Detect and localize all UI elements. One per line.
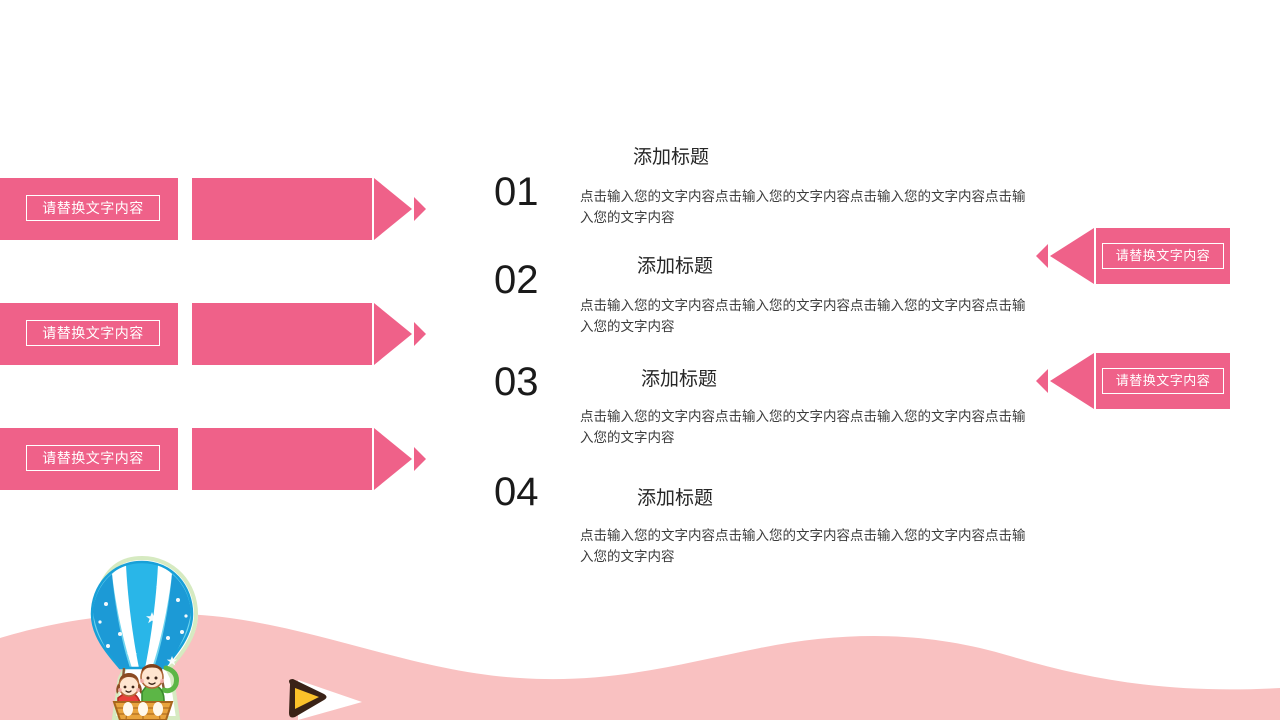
- list-item-title-04: 添加标题: [637, 487, 713, 511]
- right-chevron-tip-icon-2: [414, 322, 426, 346]
- list-item-number-02: 02: [494, 258, 539, 302]
- left-label-text-2: 请替换文字内容: [26, 320, 160, 346]
- list-item-number-01: 01: [494, 170, 539, 214]
- left-arrow-body-2: [192, 303, 372, 365]
- list-item-number-03: 03: [494, 360, 539, 404]
- left-arrow-body-3: [192, 428, 372, 490]
- left-arrow-body-1: [192, 178, 372, 240]
- list-item-title-01: 添加标题: [633, 146, 709, 170]
- list-item-number-04: 04: [494, 470, 539, 514]
- hot-air-balloon-icon: [62, 552, 222, 720]
- list-item-title-02: 添加标题: [637, 255, 713, 279]
- right-chevron-icon-2: [374, 303, 412, 365]
- right-chevron-icon-3: [374, 428, 412, 490]
- list-item-title-03: 添加标题: [641, 368, 717, 392]
- list-item-desc-01: 点击输入您的文字内容点击输入您的文字内容点击输入您的文字内容点击输入您的文字内容: [580, 186, 1035, 228]
- right-label-text-2: 请替换文字内容: [1102, 368, 1224, 394]
- slide-canvas: 请替换文字内容 请替换文字内容 请替换文字内容 请替换文字内容 请替换文字内容 …: [0, 0, 1280, 720]
- left-chevron-icon-2: [1050, 353, 1094, 409]
- right-chevron-tip-icon-1: [414, 197, 426, 221]
- left-label-text-1: 请替换文字内容: [26, 195, 160, 221]
- right-chevron-icon-1: [374, 178, 412, 240]
- list-item-desc-04: 点击输入您的文字内容点击输入您的文字内容点击输入您的文字内容点击输入您的文字内容: [580, 525, 1035, 567]
- list-item-desc-03: 点击输入您的文字内容点击输入您的文字内容点击输入您的文字内容点击输入您的文字内容: [580, 406, 1035, 448]
- left-chevron-tip-icon-2: [1036, 369, 1048, 393]
- left-chevron-tip-icon-1: [1036, 244, 1048, 268]
- right-chevron-tip-icon-3: [414, 447, 426, 471]
- yellow-triangle-badge-icon: [276, 676, 376, 720]
- list-item-desc-02: 点击输入您的文字内容点击输入您的文字内容点击输入您的文字内容点击输入您的文字内容: [580, 295, 1035, 337]
- left-label-text-3: 请替换文字内容: [26, 445, 160, 471]
- right-label-text-1: 请替换文字内容: [1102, 243, 1224, 269]
- left-chevron-icon-1: [1050, 228, 1094, 284]
